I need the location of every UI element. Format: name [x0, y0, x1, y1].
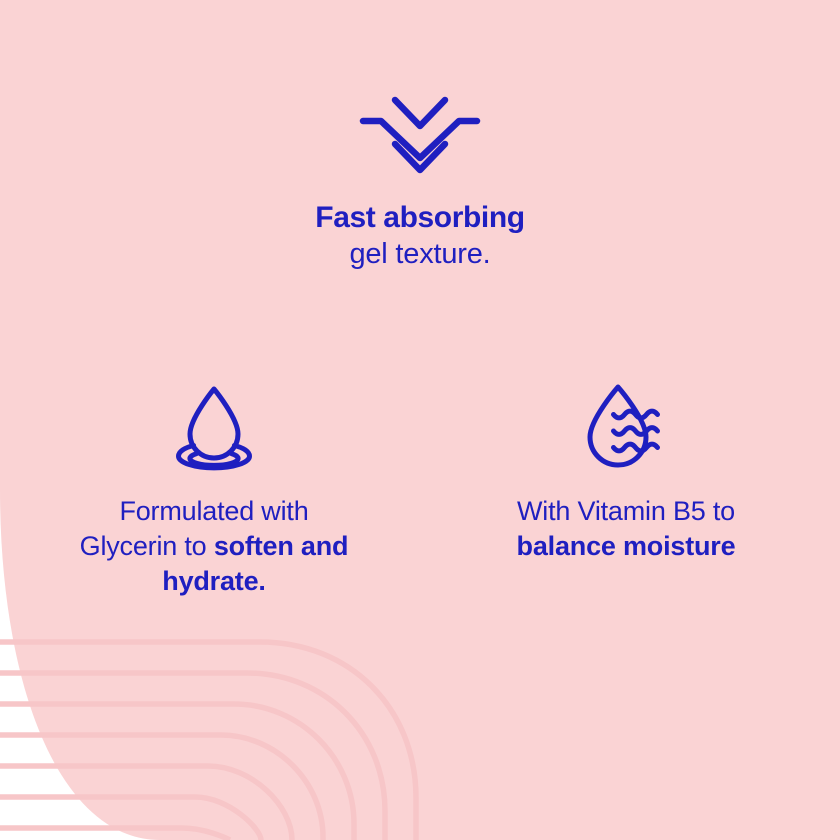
rounded-corner-stripes: [0, 620, 460, 840]
water-drop-waves-icon: [580, 382, 672, 474]
hero-panel: Fast absorbing gel texture.: [0, 0, 840, 340]
feature-text-bold: balance moisture: [517, 531, 736, 561]
feature-item-glycerin: Formulated with Glycerin to soften and h…: [69, 382, 359, 599]
hero-headline: Fast absorbing gel texture.: [315, 200, 524, 272]
feature-text-regular: With Vitamin B5 to: [517, 496, 735, 526]
feature-text-vitamin-b5: With Vitamin B5 to balance moisture: [481, 494, 771, 564]
hero-headline-bold: Fast absorbing: [315, 200, 524, 235]
water-drop-ripple-icon: [168, 382, 260, 474]
promo-graphic: Fast absorbing gel texture. Formulated w…: [0, 0, 840, 840]
feature-item-vitamin-b5: With Vitamin B5 to balance moisture: [481, 382, 771, 564]
feature-text-glycerin: Formulated with Glycerin to soften and h…: [69, 494, 359, 599]
hero-content: Fast absorbing gel texture.: [0, 0, 840, 340]
triple-chevron-down-icon: [355, 92, 485, 178]
feature-list: Formulated with Glycerin to soften and h…: [0, 382, 840, 599]
hero-headline-regular: gel texture.: [315, 237, 524, 271]
